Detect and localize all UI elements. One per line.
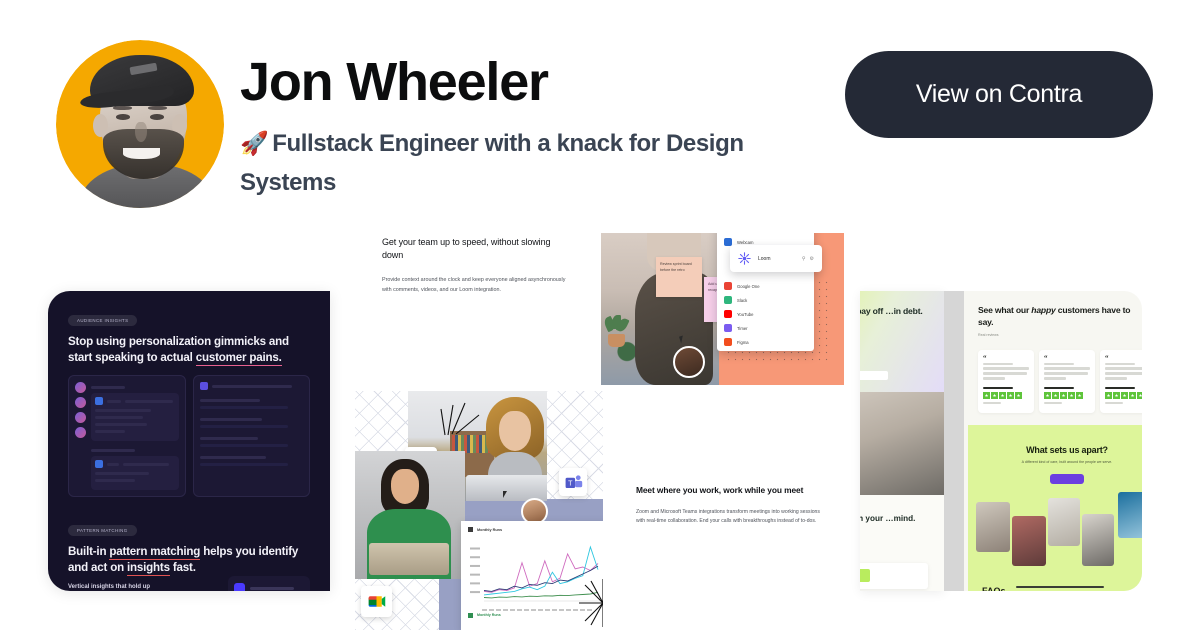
testimonial-text-line xyxy=(1044,377,1066,379)
chart-footer-text: Monthly Runs xyxy=(477,613,501,617)
loom-bottom-strip xyxy=(601,385,844,403)
gallery-image xyxy=(1048,498,1080,546)
gallery-image xyxy=(1012,516,1046,566)
quote-icon: “ xyxy=(1105,356,1142,360)
apart-gallery xyxy=(968,492,1142,576)
faq-question xyxy=(1016,586,1104,589)
menu-item-loom-actions[interactable]: ⚲⚙ xyxy=(802,256,814,262)
testimonial-card: “★★★★★ xyxy=(1039,350,1095,413)
project-card-testimonials[interactable]: See what our happy customers have to say… xyxy=(964,291,1142,591)
star-icon: ★ xyxy=(1105,392,1112,399)
x-tick xyxy=(566,609,571,611)
dk-hb-pre: Built-in xyxy=(68,545,109,558)
star-icon: ★ xyxy=(1129,392,1136,399)
faq-item[interactable]: − xyxy=(1016,586,1142,591)
sticky-note-peach: Review sprint board before the retro xyxy=(656,257,702,297)
star-icon: ★ xyxy=(1052,392,1059,399)
avatar-portrait xyxy=(56,40,224,208)
chart-title: Monthly Runs xyxy=(468,527,602,532)
testimonial-heading: See what our happy customers have to say… xyxy=(978,305,1132,329)
profile-header: Jon Wheeler 🚀Fullstack Engineer with a k… xyxy=(0,0,1200,215)
menu-item-webcam-label: Webcam xyxy=(737,240,753,245)
star-rating: ★★★★★ xyxy=(1105,392,1142,399)
testimonial-author xyxy=(1044,387,1074,390)
apart-body: A different kind of care, built around t… xyxy=(968,460,1142,466)
figma-icon xyxy=(724,338,732,346)
menu-item-label: Google One xyxy=(737,284,760,289)
x-tick xyxy=(482,609,487,611)
project-card-finance[interactable]: …helped …s pay off …in debt. …ns are …wi… xyxy=(860,291,944,591)
finance-heading: …helped …s pay off …in debt. xyxy=(860,305,944,317)
profile-tagline-text: Fullstack Engineer with a knack for Desi… xyxy=(240,130,744,196)
svg-text:T: T xyxy=(568,479,573,487)
x-tick xyxy=(531,609,536,611)
x-tick xyxy=(559,609,564,611)
star-icon: ★ xyxy=(1137,392,1142,399)
quote-icon: “ xyxy=(983,356,1029,360)
avatar xyxy=(56,40,224,208)
integration-menu[interactable]: Webcam Google OneSlackYouTubeTimerFigma xyxy=(717,233,814,351)
integration-row xyxy=(234,583,304,591)
settings-icon[interactable]: ⚙ xyxy=(810,256,814,262)
menu-item-label: Timer xyxy=(737,326,748,331)
star-icon: ★ xyxy=(991,392,998,399)
x-tick xyxy=(496,609,501,611)
gallery-image xyxy=(1118,492,1142,538)
testimonial-text-line xyxy=(983,363,1013,365)
what-sets-us-apart-section: What sets us apart? A different kind of … xyxy=(968,425,1142,591)
contra-profile-share-card: Jon Wheeler 🚀Fullstack Engineer with a k… xyxy=(0,0,1200,630)
faq-heading: FAQs xyxy=(982,586,1006,591)
profile-tagline: 🚀Fullstack Engineer with a knack for Des… xyxy=(240,125,820,203)
x-tick xyxy=(538,609,543,611)
dk-hb-u1: pattern matching xyxy=(109,545,200,560)
finance-cta-button[interactable] xyxy=(860,371,888,380)
collab-heading: Get your team up to speed, without slowi… xyxy=(382,236,568,262)
testimonial-text-line xyxy=(983,367,1029,369)
testimonial-source xyxy=(1105,402,1123,404)
gallery-image xyxy=(976,502,1010,552)
finance-heading-2: …ns are …with your …mind. xyxy=(860,513,944,525)
chart-title-text: Monthly Runs xyxy=(477,528,502,532)
doodle-lines-icon xyxy=(439,397,485,439)
gallery-image xyxy=(1082,514,1114,566)
dark-card-panel-left xyxy=(68,375,186,497)
dark-card-panel-right xyxy=(193,375,311,497)
dk-hb-post: fast. xyxy=(170,561,196,574)
project-card-dark[interactable]: AUDIENCE INSIGHTS Stop using personaliza… xyxy=(48,291,330,591)
star-rating: ★★★★★ xyxy=(1044,392,1090,399)
starburst-doodle-icon xyxy=(577,577,603,629)
faq-section: FAQs −+ xyxy=(968,580,1142,591)
loom-icon xyxy=(738,252,751,265)
testimonial-text-line xyxy=(1105,363,1135,365)
meet-body: Zoom and Microsoft Teams integrations tr… xyxy=(636,508,820,527)
finance-photo xyxy=(860,392,944,495)
finance-chip xyxy=(860,569,870,582)
menu-item-label: Slack xyxy=(737,298,747,303)
slack-icon xyxy=(234,583,245,591)
dark-card-heading-bottom: Built-in pattern matching helps you iden… xyxy=(68,544,310,575)
dark-card-heading-top-underlined: customer pains. xyxy=(196,351,282,366)
testimonial-source xyxy=(983,402,1001,404)
testimonial-list: “★★★★★“★★★★★“★★★★★ xyxy=(978,350,1132,413)
x-tick xyxy=(524,609,529,611)
slack-icon xyxy=(724,296,732,304)
dark-card-integrations xyxy=(228,576,310,591)
star-icon: ★ xyxy=(1068,392,1075,399)
dark-card-tag-top: AUDIENCE INSIGHTS xyxy=(68,315,137,326)
cursor-icon xyxy=(503,491,507,498)
dark-card-tag-bottom: PATTERN MATCHING xyxy=(68,525,137,536)
menu-item-google-one[interactable]: Google One xyxy=(717,279,814,293)
star-icon: ★ xyxy=(1076,392,1083,399)
x-tick xyxy=(489,609,494,611)
testimonial-text-line xyxy=(1044,363,1074,365)
rocket-icon: 🚀 xyxy=(240,130,268,156)
chart-icon xyxy=(468,527,473,532)
testimonial-text-line xyxy=(1105,377,1127,379)
google-meet-icon xyxy=(361,586,392,617)
dark-card-sub-1: Vertical insights that hold up xyxy=(68,584,218,590)
testimonial-author xyxy=(983,387,1013,390)
star-icon: ★ xyxy=(1121,392,1128,399)
menu-item-timer[interactable]: Timer xyxy=(717,321,814,335)
testimonial-text-line xyxy=(983,372,1027,374)
menu-item-label: YouTube xyxy=(737,312,753,317)
pin-icon[interactable]: ⚲ xyxy=(802,256,806,262)
apart-cta-button[interactable] xyxy=(1050,474,1084,484)
menu-item-loom-highlighted[interactable]: Loom ⚲⚙ xyxy=(730,245,822,272)
apart-heading: What sets us apart? xyxy=(968,445,1142,455)
google-one-icon xyxy=(724,282,732,290)
testimonial-card: “★★★★★ xyxy=(1100,350,1142,413)
menu-item-slack[interactable]: Slack xyxy=(717,293,814,307)
youtube-icon xyxy=(724,310,732,318)
quote-icon: “ xyxy=(1044,356,1090,360)
timer-icon xyxy=(724,324,732,332)
star-icon: ★ xyxy=(1015,392,1022,399)
ts-h-italic: happy xyxy=(1031,305,1055,315)
dark-card-heading-top: Stop using personalization gimmicks and … xyxy=(68,334,310,365)
menu-item-youtube[interactable]: YouTube xyxy=(717,307,814,321)
portfolio-collage: AUDIENCE INSIGHTS Stop using personaliza… xyxy=(0,215,1200,630)
x-tick xyxy=(552,609,557,611)
menu-item-label: Figma xyxy=(737,340,749,345)
testimonial-text-line xyxy=(1044,372,1088,374)
finance-bottom-card xyxy=(860,563,928,589)
x-tick xyxy=(510,609,515,611)
star-icon: ★ xyxy=(983,392,990,399)
ts-h-pre: See what our xyxy=(978,305,1031,315)
profile-title-block: Jon Wheeler 🚀Fullstack Engineer with a k… xyxy=(240,54,820,202)
microsoft-teams-icon: T xyxy=(559,468,587,496)
testimonial-source xyxy=(1044,402,1062,404)
star-rating: ★★★★★ xyxy=(983,392,1029,399)
meeting-photo-left xyxy=(355,451,465,579)
x-tick xyxy=(503,609,508,611)
star-icon: ★ xyxy=(1044,392,1051,399)
star-icon: ★ xyxy=(1113,392,1120,399)
testimonial-text-line xyxy=(983,377,1005,379)
brand-mark-icon xyxy=(468,613,473,618)
meet-heading: Meet where you work, work while you meet xyxy=(636,485,820,497)
star-icon: ★ xyxy=(1060,392,1067,399)
project-card-loom[interactable]: Review sprint board before the retro Add… xyxy=(601,233,844,403)
star-icon: ★ xyxy=(999,392,1006,399)
testimonial-card: “★★★★★ xyxy=(978,350,1034,413)
view-on-contra-button[interactable]: View on Contra xyxy=(845,51,1153,138)
participant-avatar xyxy=(673,346,705,378)
menu-item-figma[interactable]: Figma xyxy=(717,335,814,349)
testimonial-text-line xyxy=(1105,372,1142,374)
project-card-collab-text[interactable]: Get your team up to speed, without slowi… xyxy=(382,236,568,295)
testimonial-text-line xyxy=(1044,367,1090,369)
x-tick xyxy=(545,609,550,611)
testimonial-author xyxy=(1105,387,1135,390)
project-card-meet-text[interactable]: Meet where you work, work while you meet… xyxy=(636,485,820,527)
page-title: Jon Wheeler xyxy=(240,54,820,111)
testimonial-subheading: Real reviews xyxy=(978,333,1132,337)
integration-label xyxy=(250,587,294,590)
menu-item-loom-label: Loom xyxy=(758,256,771,262)
dk-hb-u2: insights xyxy=(127,561,170,576)
testimonial-text-line xyxy=(1105,367,1142,369)
project-card-video-meeting[interactable]: T Monthly Runs xyxy=(355,391,603,630)
star-icon: ★ xyxy=(1007,392,1014,399)
x-tick xyxy=(517,609,522,611)
collab-body: Provide context around the clock and kee… xyxy=(382,276,568,295)
